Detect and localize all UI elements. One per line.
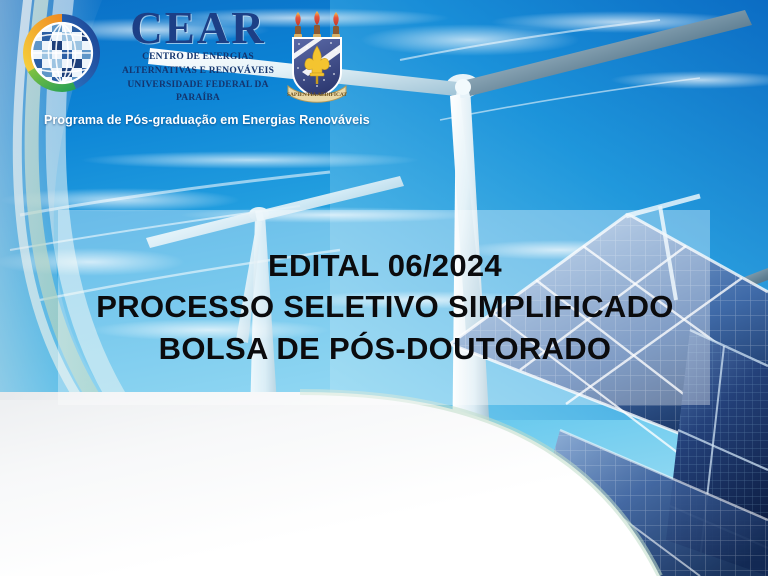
- cear-subtitle-line-2: ALTERNATIVAS E RENOVÁVEIS: [108, 65, 288, 79]
- ufpb-coat-of-arms: SAPIENTIA AEDIFICAT: [286, 10, 348, 106]
- headline-processo: PROCESSO SELETIVO SIMPLIFICADO: [40, 289, 730, 324]
- poster-canvas: EDITAL 06/2024 PROCESSO SELETIVO SIMPLIF…: [0, 0, 768, 576]
- program-subtitle: Programa de Pós-graduação em Energias Re…: [44, 113, 370, 127]
- headline-group: EDITAL 06/2024 PROCESSO SELETIVO SIMPLIF…: [40, 248, 730, 366]
- cear-acronym: CEAR: [108, 6, 288, 50]
- cear-globe-logo: [14, 8, 106, 100]
- cear-subtitle: CENTRO DE ENERGIAS ALTERNATIVAS E RENOVÁ…: [108, 51, 288, 106]
- cear-subtitle-line-3: UNIVERSIDADE FEDERAL DA PARAÍBA: [108, 79, 288, 107]
- cear-subtitle-line-1: CENTRO DE ENERGIAS: [108, 51, 288, 65]
- header-brand-row: CEAR CENTRO DE ENERGIAS ALTERNATIVAS E R…: [0, 0, 768, 140]
- cear-wordmark-block: CEAR CENTRO DE ENERGIAS ALTERNATIVAS E R…: [108, 6, 288, 106]
- headline-bolsa: BOLSA DE PÓS-DOUTORADO: [40, 331, 730, 366]
- motto-text: SAPIENTIA AEDIFICAT: [287, 92, 347, 98]
- headline-edital: EDITAL 06/2024: [40, 248, 730, 283]
- torch-group: [294, 11, 340, 38]
